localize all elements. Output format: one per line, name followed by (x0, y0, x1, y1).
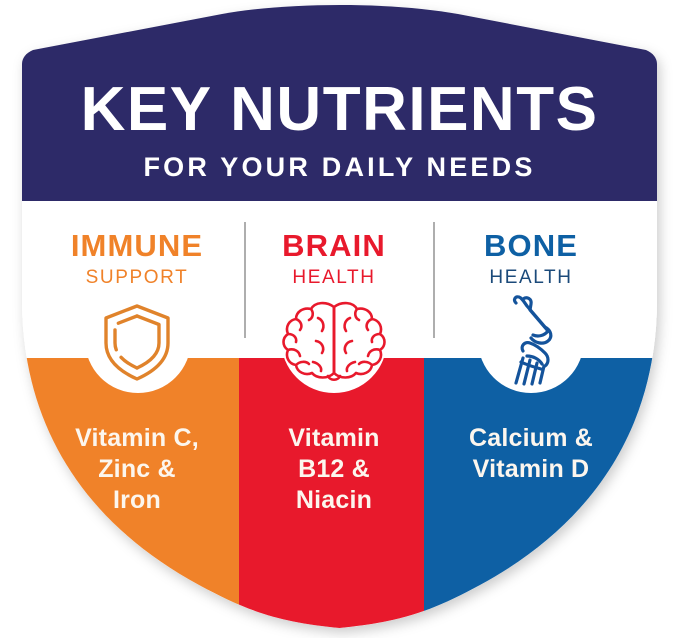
column-title-brain: BRAIN (282, 228, 386, 263)
nutrient-brain-line3: Niacin (296, 486, 372, 514)
key-nutrients-infographic: KEY NUTRIENTS FOR YOUR DAILY NEEDS IMMUN… (0, 0, 679, 638)
column-title-immune: IMMUNE (71, 228, 203, 263)
column-title-bone: BONE (484, 228, 578, 263)
shield-graphic: KEY NUTRIENTS FOR YOUR DAILY NEEDS IMMUN… (0, 0, 679, 638)
page-title: KEY NUTRIENTS (81, 75, 599, 144)
nutrient-brain-line2: B12 & (298, 455, 370, 483)
nutrient-bone-line1: Calcium & (469, 424, 593, 452)
shield-body: KEY NUTRIENTS FOR YOUR DAILY NEEDS IMMUN… (0, 0, 679, 638)
nutrient-bone-line2: Vitamin D (473, 455, 590, 483)
page-subtitle: FOR YOUR DAILY NEEDS (143, 152, 535, 182)
nutrient-immune-line1: Vitamin C, (75, 424, 199, 452)
nutrient-immune-line3: Iron (113, 486, 161, 514)
column-subtitle-immune: SUPPORT (86, 267, 189, 288)
column-subtitle-brain: HEALTH (292, 267, 375, 288)
nutrient-immune-line2: Zinc & (98, 455, 176, 483)
nutrient-brain-line1: Vitamin (288, 424, 379, 452)
column-subtitle-bone: HEALTH (489, 267, 572, 288)
band-bone (424, 358, 679, 638)
